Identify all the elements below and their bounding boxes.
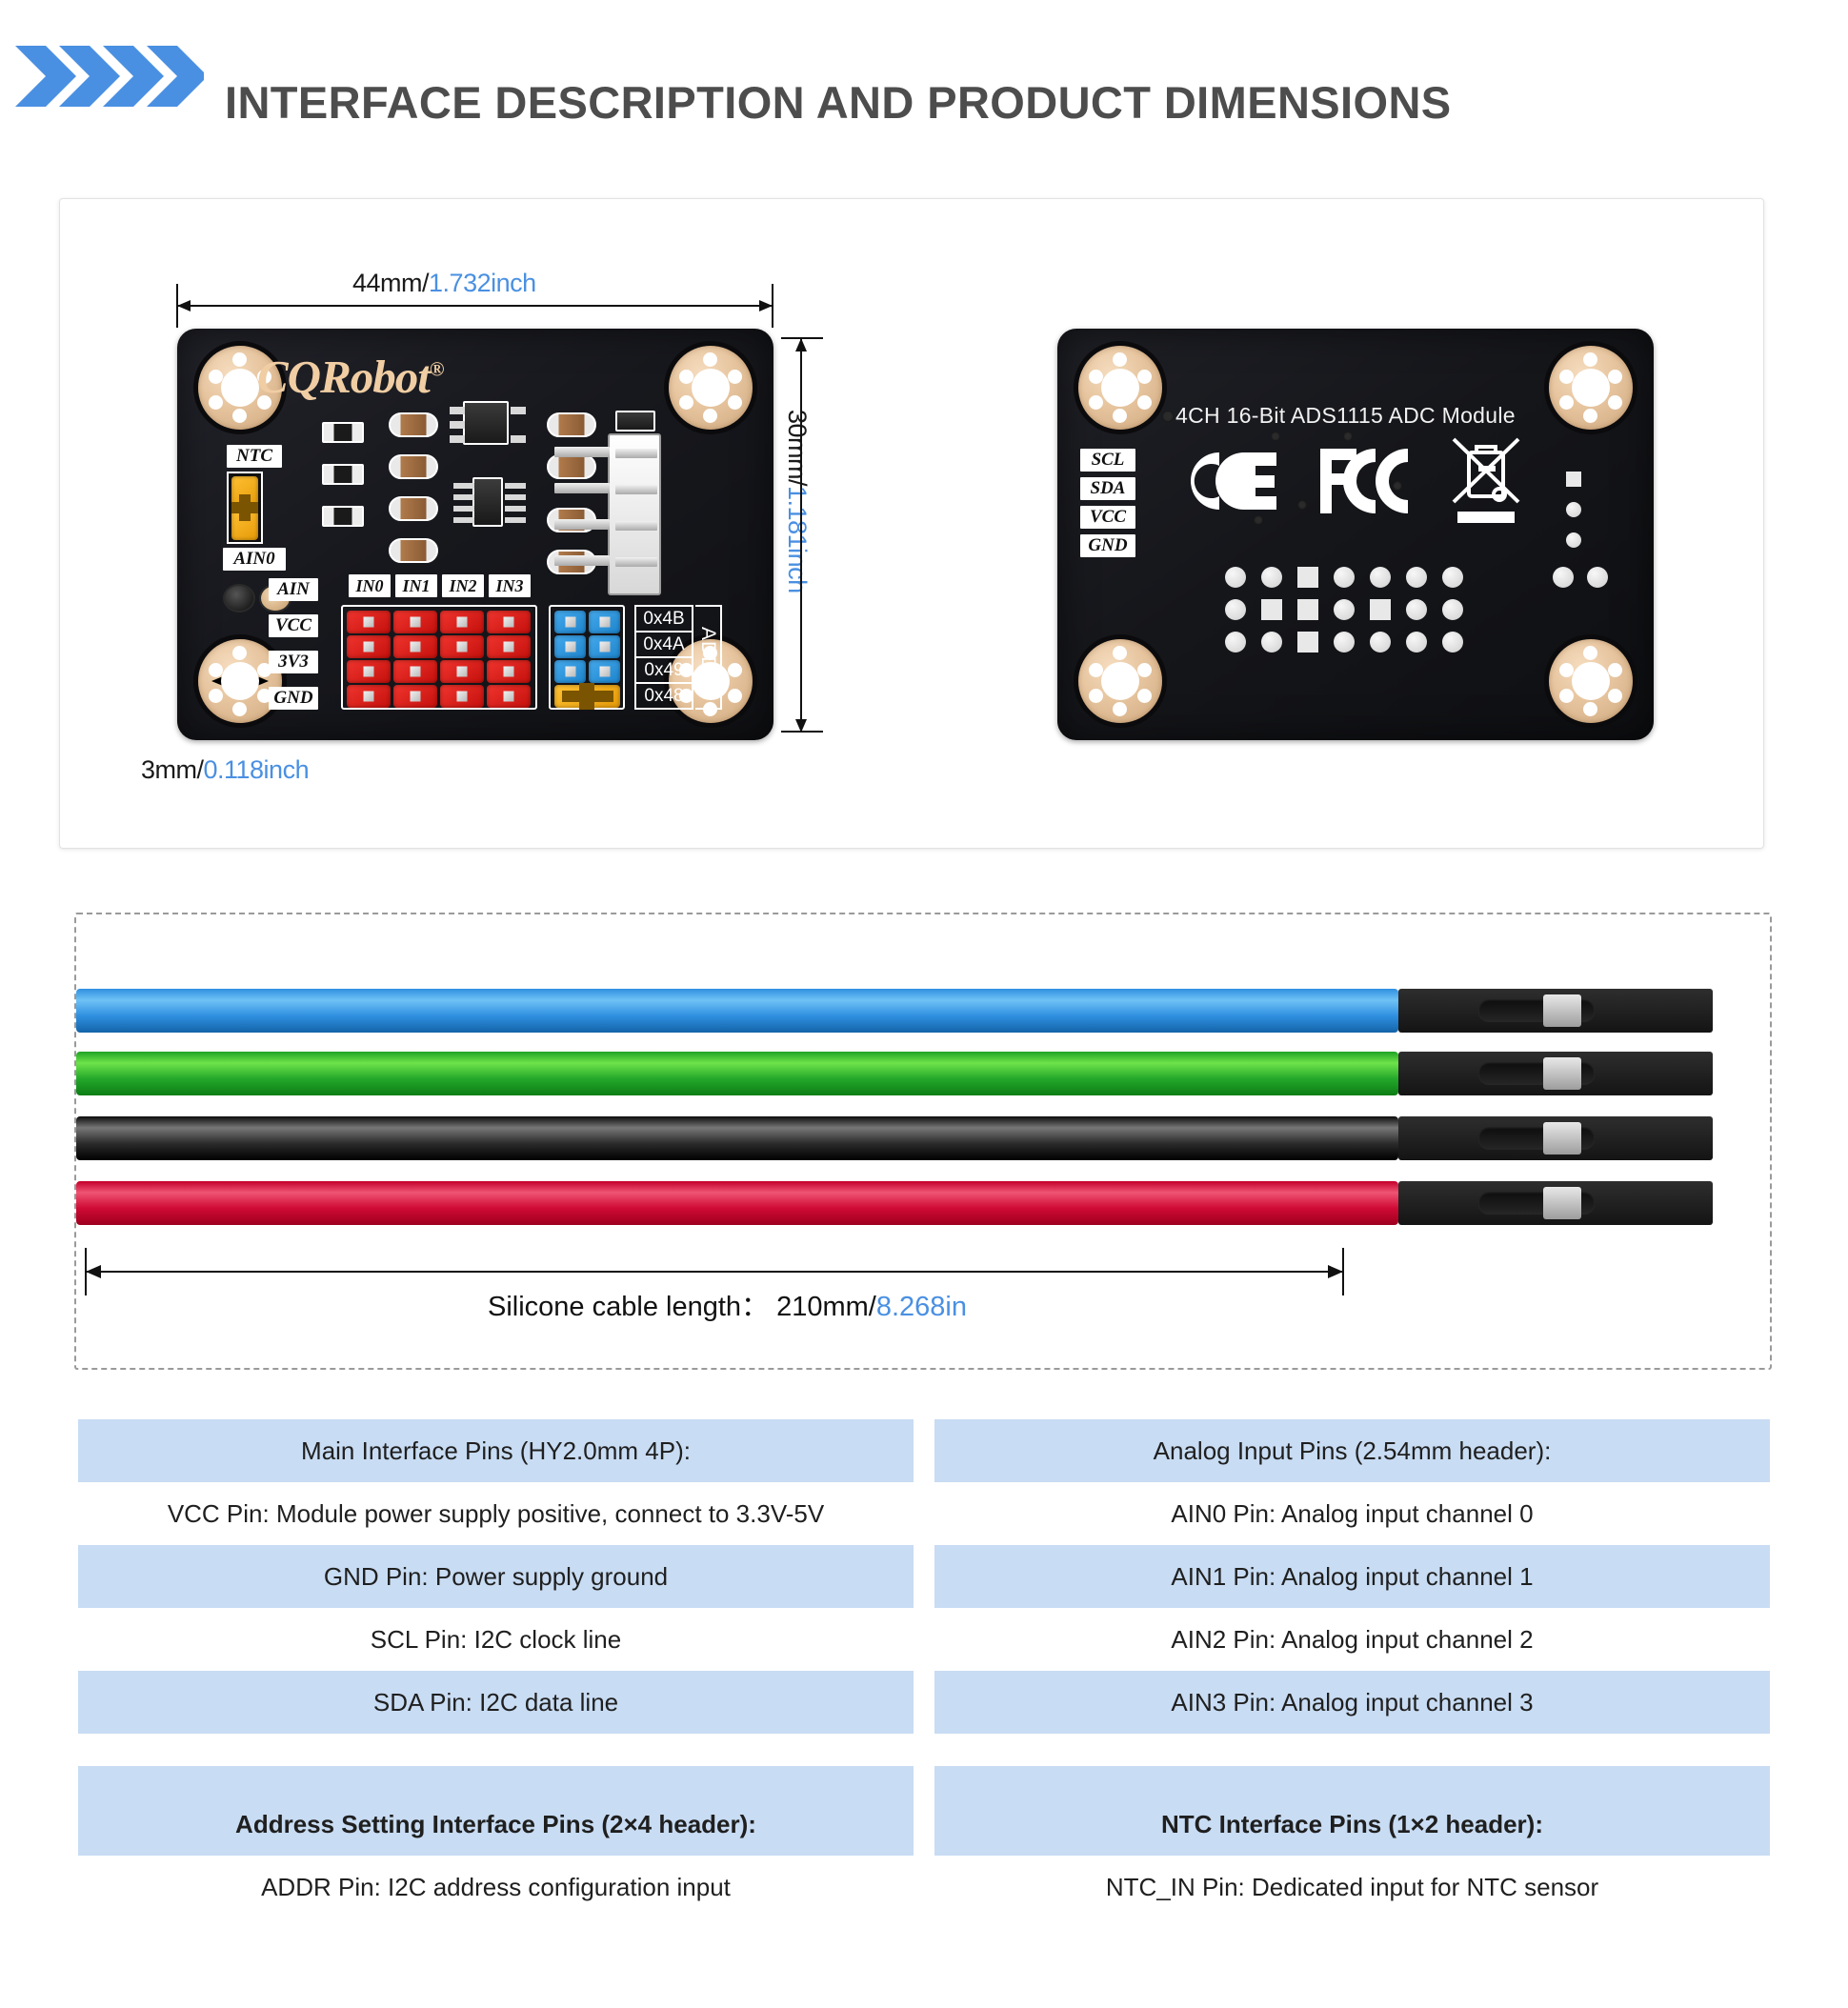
via bbox=[1297, 500, 1307, 510]
chevron-arrows-icon bbox=[13, 40, 204, 112]
cable-length-label: Silicone cable length： 210mm/8.268in bbox=[488, 1284, 967, 1324]
table-row: AIN0 Pin: Analog input channel 0 bbox=[934, 1482, 1770, 1545]
page-header: INTERFACE DESCRIPTION AND PRODUCT DIMENS… bbox=[0, 32, 1848, 124]
pcb-back-view: 4CH 16-Bit ADS1115 ADC Module SCL SDA VC… bbox=[1057, 329, 1654, 740]
table-row: GND Pin: Power supply ground bbox=[78, 1545, 914, 1608]
cable-dimension-line bbox=[86, 1271, 1343, 1273]
table-row: VCC Pin: Module power supply positive, c… bbox=[78, 1482, 914, 1545]
table-row: Analog Input Pins (2.54mm header): bbox=[934, 1419, 1770, 1482]
table-row: Main Interface Pins (HY2.0mm 4P): bbox=[78, 1419, 914, 1482]
via bbox=[1162, 411, 1174, 422]
smd-diode bbox=[615, 411, 655, 432]
silk-label-addr: ADDR bbox=[695, 605, 722, 710]
table-row: NTC Interface Pins (1×2 header): bbox=[934, 1793, 1770, 1856]
dupont-connector bbox=[1398, 989, 1713, 1033]
via bbox=[1271, 432, 1280, 441]
smd-resistor bbox=[389, 454, 438, 479]
via bbox=[1393, 481, 1402, 491]
via bbox=[1254, 515, 1263, 525]
solder-pad bbox=[1566, 532, 1581, 548]
silk-label-in3: IN3 bbox=[489, 574, 531, 597]
smd-capacitor bbox=[322, 422, 364, 443]
thickness-dimension-label: 3mm/0.118inch bbox=[141, 755, 309, 785]
solder-pad bbox=[1553, 567, 1574, 588]
dupont-connector bbox=[1398, 1052, 1713, 1095]
silk-label-in0: IN0 bbox=[349, 574, 391, 597]
silk-label-in1: IN1 bbox=[395, 574, 437, 597]
solder-pad bbox=[1566, 502, 1581, 517]
mounting-hole-bottom-right bbox=[1549, 639, 1633, 723]
back-pad-matrix bbox=[1225, 567, 1530, 653]
pin-description-tables: Main Interface Pins (HY2.0mm 4P): VCC Pi… bbox=[78, 1419, 1770, 1918]
silk-label-3v3: 3V3 bbox=[269, 651, 318, 673]
ads1115-adc-ic bbox=[472, 477, 503, 527]
main-interface-table: Main Interface Pins (HY2.0mm 4P): VCC Pi… bbox=[78, 1419, 914, 1918]
connector-pins-row bbox=[554, 441, 612, 584]
silk-label-ntc: NTC bbox=[227, 445, 282, 468]
back-silk-label-gnd: GND bbox=[1080, 534, 1135, 557]
smd-resistor bbox=[389, 538, 438, 563]
back-silk-label-sda: SDA bbox=[1080, 477, 1135, 500]
smd-capacitor bbox=[322, 506, 364, 527]
silk-label-ain0: AIN0 bbox=[223, 548, 286, 571]
board-model-title: 4CH 16-Bit ADS1115 ADC Module bbox=[1175, 403, 1516, 429]
silk-label-vcc: VCC bbox=[269, 614, 318, 637]
analog-input-header[interactable] bbox=[341, 605, 537, 710]
back-silk-label-scl: SCL bbox=[1080, 449, 1135, 472]
ce-mark-icon bbox=[1177, 447, 1280, 515]
table-row-spacer bbox=[78, 1766, 914, 1793]
test-pad-left bbox=[223, 584, 255, 612]
hy2-connector bbox=[608, 433, 661, 595]
signal-wire-blue bbox=[76, 989, 1398, 1033]
back-silk-label-vcc: VCC bbox=[1080, 506, 1135, 529]
sot23-regulator-ic bbox=[463, 401, 509, 445]
solder-pad bbox=[1587, 567, 1608, 588]
ground-wire-black bbox=[76, 1116, 1398, 1160]
brand-logo: CQRobot® bbox=[257, 350, 444, 404]
table-row: SDA Pin: I2C data line bbox=[78, 1671, 914, 1734]
analog-input-table: Analog Input Pins (2.54mm header): AIN0 … bbox=[934, 1419, 1770, 1918]
width-dimension-line bbox=[177, 305, 773, 307]
address-value-0x4B: 0x4B bbox=[636, 607, 692, 633]
pcb-front-view: CQRobot® NTC AIN0 AIN VCC 3V3 GND bbox=[177, 329, 773, 740]
table-row: SCL Pin: I2C clock line bbox=[78, 1608, 914, 1671]
silk-label-in2: IN2 bbox=[442, 574, 484, 597]
page-title: INTERFACE DESCRIPTION AND PRODUCT DIMENS… bbox=[225, 76, 1452, 129]
thickness-arrow-icon bbox=[211, 673, 269, 689]
table-row: NTC_IN Pin: Dedicated input for NTC sens… bbox=[934, 1856, 1770, 1918]
address-value-0x49: 0x49 bbox=[636, 658, 692, 684]
signal-wire-green bbox=[76, 1052, 1398, 1095]
smd-capacitor bbox=[322, 464, 364, 485]
ntc-jumper-header bbox=[227, 472, 263, 544]
dupont-connector bbox=[1398, 1116, 1713, 1160]
mounting-hole-top-left bbox=[1078, 346, 1162, 430]
table-row: Address Setting Interface Pins (2×4 head… bbox=[78, 1793, 914, 1856]
address-value-0x48: 0x48 bbox=[636, 684, 692, 708]
silk-label-gnd: GND bbox=[269, 687, 318, 710]
power-wire-red bbox=[76, 1181, 1398, 1225]
table-row-spacer bbox=[78, 1734, 914, 1766]
dupont-connector bbox=[1398, 1181, 1713, 1225]
smd-resistor bbox=[389, 496, 438, 521]
via bbox=[1343, 432, 1353, 441]
fcc-mark-icon bbox=[1316, 445, 1416, 517]
table-row-spacer bbox=[934, 1734, 1770, 1766]
mounting-hole-top-right bbox=[1549, 346, 1633, 430]
solder-pad bbox=[1566, 472, 1581, 487]
silk-label-ain: AIN bbox=[269, 578, 318, 601]
table-row: ADDR Pin: I2C address configuration inpu… bbox=[78, 1856, 914, 1918]
height-dimension-label: 30mm/1.181inch bbox=[782, 410, 812, 593]
address-setting-header[interactable] bbox=[549, 605, 625, 710]
address-value-list: 0x4B 0x4A 0x49 0x48 bbox=[634, 605, 693, 710]
width-dimension-label: 44mm/1.732inch bbox=[352, 269, 536, 298]
smd-resistor bbox=[389, 412, 438, 437]
table-row: AIN1 Pin: Analog input channel 1 bbox=[934, 1545, 1770, 1608]
table-row: AIN3 Pin: Analog input channel 3 bbox=[934, 1671, 1770, 1734]
mounting-hole-top-right bbox=[669, 346, 753, 430]
table-row: AIN2 Pin: Analog input channel 2 bbox=[934, 1608, 1770, 1671]
smd-resistor bbox=[547, 412, 596, 437]
weee-mark-icon bbox=[1450, 435, 1522, 529]
table-row-spacer bbox=[934, 1766, 1770, 1793]
mounting-hole-bottom-left bbox=[1078, 639, 1162, 723]
height-dimension-line bbox=[800, 338, 802, 733]
address-value-0x4A: 0x4A bbox=[636, 633, 692, 658]
